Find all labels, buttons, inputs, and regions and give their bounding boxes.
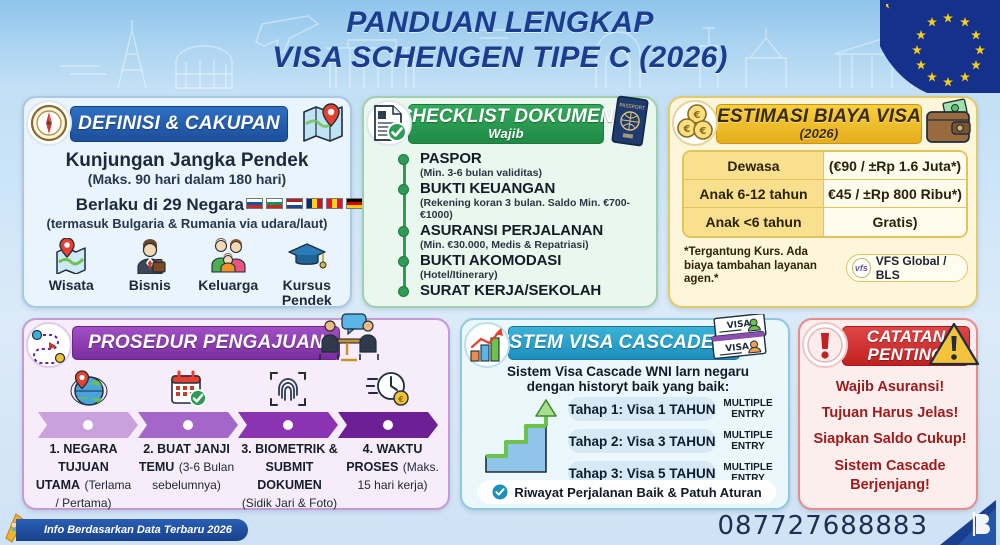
estimasi-banner: ESTIMASI BIAYA VISA (2026) — [716, 104, 922, 144]
definisi-line-3: Berlaku di 29 Negara — [34, 195, 244, 215]
map-pin-icon — [300, 100, 346, 151]
fee-row: Anak 6-12 tahun €45 / ±Rp 800 Ribu*) — [684, 180, 966, 208]
calendar-check-icon — [138, 366, 238, 412]
card-definisi-cakupan: DEFINISI & CAKUPAN Kunjungan Jangka Pend… — [22, 96, 352, 308]
brand-logo-icon — [940, 500, 996, 545]
checklist-item-title: BUKTI KEUANGAN — [420, 180, 660, 197]
step-arrow — [338, 412, 438, 438]
bullet-dot-icon — [398, 184, 409, 195]
stairs-growth-illustration — [480, 398, 564, 478]
card-estimasi-biaya: € € € ESTIMASI BIAYA VISA (2026) — [668, 96, 978, 308]
businessman-icon — [112, 236, 188, 276]
svg-text:€: € — [693, 110, 701, 121]
flag-swatch — [346, 198, 363, 209]
document-check-icon — [366, 100, 412, 146]
passport-icon: PASSPORT — [608, 94, 654, 155]
fee-value: (€90 / ±Rp 1.6 Juta*) — [824, 152, 966, 179]
purpose-list: Wisata Bisnis — [32, 236, 346, 308]
step-label: 3. BIOMETRIK & SUBMIT DOKUMEN (Sidik Jar… — [238, 440, 341, 512]
bullet-dot-icon — [398, 226, 409, 237]
estimasi-banner-sub: (2026) — [800, 127, 839, 141]
step-title: 3. BIOMETRIK & SUBMIT DOKUMEN — [241, 442, 338, 492]
header-banner: PANDUAN LENGKAP VISA SCHENGEN TIPE C (20… — [0, 0, 1000, 93]
definisi-line-4: (termasuk Bulgaria & Rumania via udara/l… — [24, 216, 350, 231]
checklist-item: BUKTI AKOMODASI (Hotel/Itinerary) — [392, 252, 660, 281]
catatan-note: Sistem Cascade Berjenjang! — [806, 452, 974, 495]
purpose-label: Wisata — [33, 278, 109, 293]
checklist-item: ASURANSI PERJALANAN (Min. €30.000, Medis… — [392, 222, 660, 251]
graduation-cap-icon — [269, 236, 345, 276]
prosedur-banner: PROSEDUR PENGAJUAN — [72, 326, 340, 360]
step-label: 4. WAKTU PROSES (Maks. 15 hari kerja) — [341, 440, 444, 512]
checklist-item-sub: (Rekening koran 3 bulan. Saldo Min. €700… — [420, 197, 660, 221]
title-line-2: VISA SCHENGEN TIPE C (2026) — [0, 40, 1000, 76]
fee-table: Dewasa (€90 / ±Rp 1.6 Juta*) Anak 6-12 t… — [682, 150, 968, 238]
svg-text:€: € — [683, 124, 691, 135]
purpose-item-keluarga: Keluarga — [190, 236, 266, 293]
definisi-line-2: (Maks. 90 hari dalam 180 hari) — [24, 171, 350, 187]
checklist-item-sub: (Min. €30.000, Medis & Repatriasi) — [420, 239, 660, 251]
step-marker-dot — [383, 420, 393, 430]
flag-swatch — [326, 198, 343, 209]
cascade-row: Tahap 1: Visa 1 TAHUN MULTIPLE ENTRY — [568, 396, 784, 422]
compass-icon — [26, 100, 72, 146]
checklist-item-title: BUKTI AKOMODASI — [420, 252, 660, 269]
catatan-note: Tujuan Harus Jelas! — [806, 400, 974, 426]
vfs-label: VFS Global / BLS — [876, 254, 967, 282]
route-path-icon — [26, 322, 72, 368]
checklist-item-sub: (Min. 3-6 bulan validitas) — [420, 167, 660, 179]
exclamation-circle-icon — [802, 322, 848, 368]
step-icons: € — [38, 366, 438, 412]
checklist-item-title: SURAT KERJA/SEKOLAH — [420, 282, 660, 299]
cascade-banner: SISTEM VISA CASCADE WNI — [508, 326, 740, 360]
checklist-banner-title: CHECKLIST DOKUMEN — [398, 107, 614, 127]
infographic-page: PANDUAN LENGKAP VISA SCHENGEN TIPE C (20… — [0, 0, 1000, 545]
cascade-row: Tahap 2: Visa 3 TAHUN MULTIPLE ENTRY — [568, 428, 784, 454]
svg-text:€: € — [699, 126, 707, 137]
page-title: PANDUAN LENGKAP VISA SCHENGEN TIPE C (20… — [0, 6, 1000, 76]
eu-flag-icon — [880, 0, 1000, 93]
step-label: 2. BUAT JANJI TEMU (3-6 Bulan sebelumnya… — [135, 440, 238, 512]
flag-swatch — [286, 198, 303, 209]
visa-cards-icon: VISA VISA — [707, 314, 779, 371]
step-arrow — [238, 412, 338, 438]
checklist-item-sub: (Hotel/Itinerary) — [420, 269, 660, 281]
svg-text:€: € — [397, 395, 404, 404]
purpose-item-bisnis: Bisnis — [112, 236, 188, 293]
step-label: 1. NEGARA TUJUAN UTAMA (Terlama / Pertam… — [32, 440, 135, 512]
title-line-1: PANDUAN LENGKAP — [0, 6, 1000, 40]
fingerprint-icon — [238, 366, 338, 412]
bullet-dot-icon — [398, 286, 409, 297]
definisi-line-1: Kunjungan Jangka Pendek — [24, 150, 350, 172]
purpose-label: Kursus Pendek — [269, 278, 345, 308]
checklist-banner: CHECKLIST DOKUMEN Wajib — [408, 104, 604, 144]
family-icon — [190, 236, 266, 276]
catatan-notes: Wajib Asuransi! Tujuan Harus Jelas! Siap… — [806, 374, 974, 495]
step-marker-dot — [83, 420, 93, 430]
definisi-banner: DEFINISI & CAKUPAN — [70, 106, 288, 142]
definisi-banner-title: DEFINISI & CAKUPAN — [78, 114, 280, 134]
wallet-money-icon — [922, 98, 974, 151]
purpose-label: Keluarga — [190, 278, 266, 293]
fee-row: Anak <6 tahun Gratis) — [684, 208, 966, 236]
prosedur-banner-title: PROSEDUR PENGAJUAN — [88, 333, 324, 353]
growth-chart-icon — [464, 322, 510, 368]
catatan-note: Wajib Asuransi! — [806, 374, 974, 400]
checklist-item: SURAT KERJA/SEKOLAH — [392, 282, 660, 299]
footer-badge-text: Info Berdasarkan Data Terbaru 2026 — [44, 524, 232, 536]
step-arrow — [38, 412, 138, 438]
footer-phone-number: 087727688883 — [717, 511, 928, 541]
cascade-entry-type: MULTIPLE ENTRY — [716, 430, 780, 452]
step-arrow-bar — [38, 412, 438, 438]
footer-info-badge: Info Berdasarkan Data Terbaru 2026 — [16, 519, 248, 541]
bullet-dot-icon — [398, 256, 409, 267]
fee-key: Dewasa — [684, 152, 824, 179]
cascade-entry-type: MULTIPLE ENTRY — [716, 398, 780, 420]
euro-coins-icon: € € € — [672, 100, 718, 146]
globe-pin-icon — [38, 366, 138, 412]
fee-value: Gratis) — [824, 208, 966, 236]
step-marker-dot — [283, 420, 293, 430]
checklist-item-title: ASURANSI PERJALANAN — [420, 222, 660, 239]
step-marker-dot — [183, 420, 193, 430]
flag-swatch — [306, 198, 323, 209]
vfs-logo-icon: vfs — [852, 258, 871, 278]
purpose-item-wisata: Wisata — [33, 236, 109, 293]
checklist-item: BUKTI KEUANGAN (Rekening koran 3 bulan. … — [392, 180, 660, 221]
step-arrow — [138, 412, 238, 438]
purpose-label: Bisnis — [112, 278, 188, 293]
map-location-icon — [33, 236, 109, 276]
estimasi-note: *Tergantung Kurs. Ada biaya tambahan lay… — [684, 246, 834, 287]
fee-row: Dewasa (€90 / ±Rp 1.6 Juta*) — [684, 152, 966, 180]
fee-value: €45 / ±Rp 800 Ribu*) — [824, 180, 966, 207]
estimasi-banner-title: ESTIMASI BIAYA VISA — [717, 107, 921, 127]
card-catatan-penting: CATATAN PENTING Wajib Asuransi! Tujuan H… — [798, 318, 978, 510]
cascade-footer-text: Riwayat Perjalanan Baik & Patuh Aturan — [514, 485, 761, 500]
card-checklist-dokumen: CHECKLIST DOKUMEN Wajib PASSPORT PASPOR … — [362, 96, 658, 308]
flag-swatch — [266, 198, 283, 209]
cascade-footer: Riwayat Perjalanan Baik & Patuh Aturan — [478, 480, 776, 504]
flag-swatch — [246, 198, 263, 209]
purpose-item-kursus-pendek: Kursus Pendek — [269, 236, 345, 308]
bullet-dot-icon — [398, 154, 409, 165]
interview-desk-icon — [318, 312, 380, 369]
cascade-rows: Tahap 1: Visa 1 TAHUN MULTIPLE ENTRY Tah… — [568, 396, 784, 492]
card-prosedur-pengajuan: PROSEDUR PENGAJUAN — [22, 318, 450, 510]
cascade-stage-label: Tahap 2: Visa 3 TAHUN — [568, 429, 716, 453]
cascade-stage-label: Tahap 1: Visa 1 TAHUN — [568, 397, 716, 421]
catatan-note: Siapkan Saldo Cukup! — [806, 426, 974, 452]
fee-key: Anak <6 tahun — [684, 208, 824, 236]
check-circle-icon — [492, 484, 508, 500]
vfs-global-badge: vfs VFS Global / BLS — [846, 254, 968, 282]
card-sistem-visa-cascade: SISTEM VISA CASCADE WNI VISA VISA — [460, 318, 790, 510]
checklist-banner-sub: Wajib — [488, 127, 523, 141]
step-sub: (Sidik Jari & Foto) — [242, 496, 337, 510]
warning-triangle-icon — [928, 320, 980, 373]
checklist-items: PASPOR (Min. 3-6 bulan validitas) BUKTI … — [392, 150, 660, 300]
clock-fast-icon: € — [338, 366, 438, 412]
country-flags — [246, 198, 363, 209]
fee-key: Anak 6-12 tahun — [684, 180, 824, 207]
step-labels: 1. NEGARA TUJUAN UTAMA (Terlama / Pertam… — [32, 440, 444, 512]
